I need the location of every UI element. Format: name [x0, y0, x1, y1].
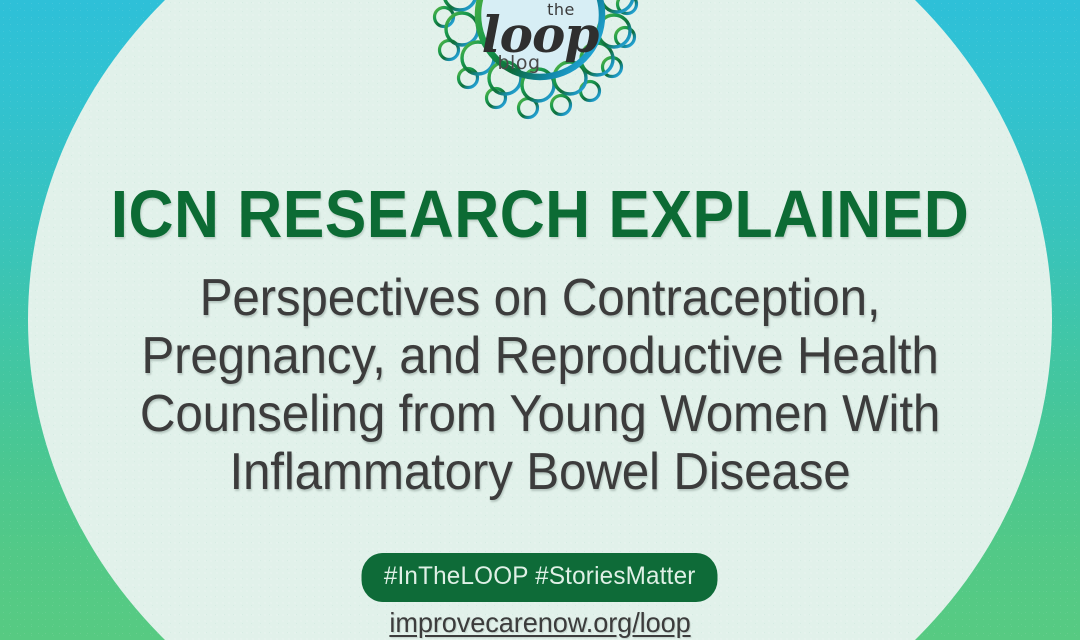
hashtag-badge: #InTheLOOP #StoriesMatter [362, 553, 718, 602]
poster-content: the loop blog ICN RESEARCH EXPLAINED Per… [0, 0, 1080, 640]
website-link[interactable]: improvecarenow.org/loop [16, 607, 1064, 638]
page-title: ICN RESEARCH EXPLAINED [38, 181, 1042, 248]
poster-canvas: the loop blog ICN RESEARCH EXPLAINED Per… [0, 0, 1080, 640]
footer: #InTheLOOP #StoriesMatter improvecarenow… [0, 553, 1080, 638]
the-loop-blog-logo: the loop blog [420, 0, 660, 150]
logo-sunburst-icon [420, 0, 660, 150]
page-subtitle: Perspectives on Contraception, Pregnancy… [84, 269, 996, 501]
